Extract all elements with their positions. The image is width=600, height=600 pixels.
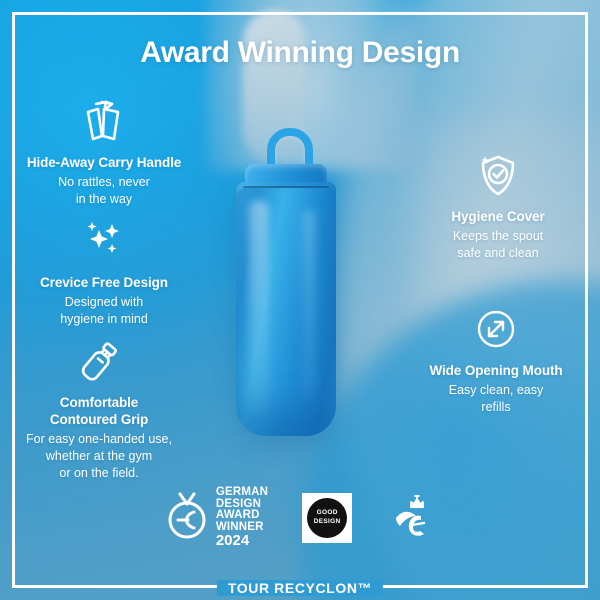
gda-year: 2024: [216, 533, 268, 548]
german-design-award-emblem: [164, 490, 210, 545]
feature-description: Designed with hygiene in mind: [4, 294, 204, 329]
feature-title: Wide Opening Mouth: [396, 363, 596, 380]
carry-handle-icon: [4, 98, 204, 146]
feature-hide-away-carry-handle: Hide-Away Carry Handle No rattles, never…: [4, 98, 204, 208]
feature-desc-line: Designed with: [4, 294, 204, 311]
good-design-award-badge: GOOD DESIGN: [302, 493, 352, 543]
product-bottle-image: [225, 140, 347, 440]
good-design-circle: GOOD DESIGN: [307, 498, 347, 538]
feature-desc-line: For easy one-handed use,: [0, 431, 199, 448]
gda-line: GERMAN: [216, 487, 268, 499]
feature-title: Comfortable Contoured Grip: [0, 395, 199, 429]
feature-description: Keeps the spout safe and clean: [398, 228, 598, 263]
page-title: Award Winning Design: [0, 36, 600, 70]
feature-title: Crevice Free Design: [4, 275, 204, 292]
feature-crevice-free-design: Crevice Free Design Designed with hygien…: [4, 218, 204, 328]
feature-desc-line: hygiene in mind: [4, 311, 204, 328]
infographic-canvas: Award Winning Design Hide-Away Carry Han…: [0, 0, 600, 600]
feature-wide-opening-mouth: Wide Opening Mouth Easy clean, easy refi…: [396, 306, 596, 416]
feature-desc-line: whether at the gym: [0, 448, 199, 465]
feature-desc-line: safe and clean: [398, 245, 598, 262]
feature-comfortable-contoured-grip: Comfortable Contoured Grip For easy one-…: [0, 338, 199, 483]
feature-description: Easy clean, easy refills: [396, 382, 596, 417]
feature-desc-line: Easy clean, easy: [396, 382, 596, 399]
gda-line: AWARD: [216, 510, 268, 522]
german-design-award-badge: GERMAN DESIGN AWARD WINNER 2024: [164, 487, 268, 548]
feature-desc-line: No rattles, never: [4, 174, 204, 191]
feature-hygiene-cover: Hygiene Cover Keeps the spout safe and c…: [398, 152, 598, 262]
bottle-grip-icon: [0, 338, 199, 386]
feature-description: For easy one-handed use, whether at the …: [0, 431, 199, 483]
expand-arrows-circle-icon: [396, 306, 596, 354]
bottle-highlight-left: [249, 200, 269, 415]
feature-title-line: Contoured Grip: [0, 412, 199, 429]
feature-desc-line: refills: [396, 399, 596, 416]
brand-name: TOUR RECYCLON™: [217, 580, 383, 596]
feature-desc-line: Keeps the spout: [398, 228, 598, 245]
feature-title-line: Comfortable: [0, 395, 199, 412]
feature-description: No rattles, never in the way: [4, 174, 204, 209]
german-design-award-text: GERMAN DESIGN AWARD WINNER 2024: [216, 487, 268, 548]
good-design-line1: GOOD: [317, 509, 338, 517]
good-design-line2: DESIGN: [314, 518, 341, 526]
sparkles-icon: [4, 218, 204, 266]
award-badges: GERMAN DESIGN AWARD WINNER 2024 GOOD DES…: [0, 487, 600, 548]
feature-title: Hygiene Cover: [398, 209, 598, 226]
feature-desc-line: in the way: [4, 191, 204, 208]
shield-check-icon: [398, 152, 598, 200]
bottle-highlight-right: [303, 210, 315, 400]
feature-desc-line: or on the field.: [0, 465, 199, 482]
queens-award-badge: [386, 492, 436, 544]
feature-title: Hide-Away Carry Handle: [4, 155, 204, 172]
